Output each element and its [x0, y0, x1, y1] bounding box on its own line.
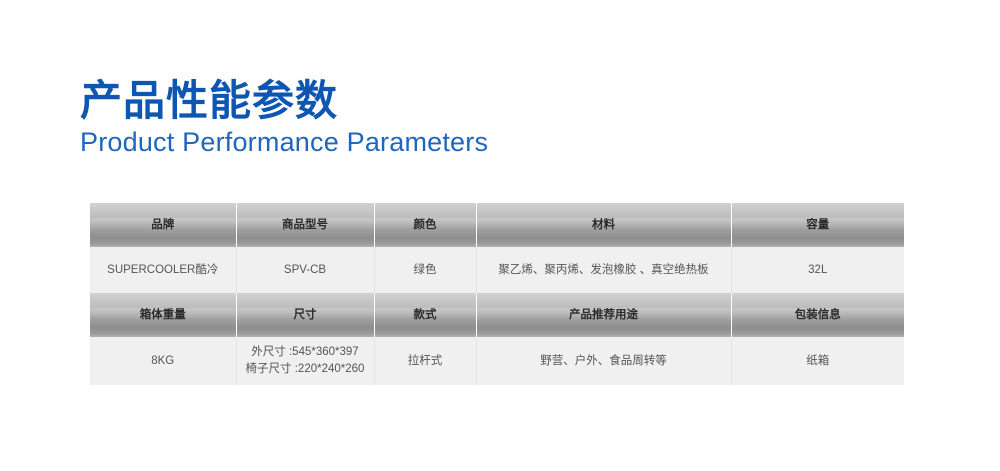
page-heading: 产品性能参数 Product Performance Parameters: [80, 78, 488, 158]
value-cell-style: 拉杆式: [374, 337, 476, 385]
header-cell-material: 材料: [476, 203, 731, 247]
header-cell-size: 尺寸: [236, 293, 374, 337]
table-data-row-1: SUPERCOOLER酷冷 SPV-CB 绿色 聚乙烯、聚丙烯、发泡橡胶 、真空…: [90, 247, 904, 293]
table-data-row-2: 8KG 外尺寸 :545*360*397 椅子尺寸 :220*240*260 拉…: [90, 337, 904, 385]
value-style: 拉杆式: [375, 353, 476, 370]
value-weight: 8KG: [90, 353, 236, 370]
value-material: 聚乙烯、聚丙烯、发泡橡胶 、真空绝热板: [477, 262, 731, 279]
header-label-model: 商品型号: [237, 217, 374, 234]
header-label-packaging: 包装信息: [732, 307, 905, 324]
page-title-cn: 产品性能参数: [80, 78, 488, 123]
header-label-material: 材料: [477, 217, 731, 234]
value-usage: 野营、户外、食品周转等: [477, 353, 731, 370]
value-capacity: 32L: [732, 262, 905, 279]
value-cell-brand: SUPERCOOLER酷冷: [90, 247, 236, 293]
value-model: SPV-CB: [237, 262, 374, 279]
header-label-color: 颜色: [375, 217, 476, 234]
value-cell-size: 外尺寸 :545*360*397 椅子尺寸 :220*240*260: [236, 337, 374, 385]
product-spec-table: 品牌 商品型号 颜色 材料 容量 SUPERCOOLER酷冷: [90, 203, 904, 385]
value-cell-material: 聚乙烯、聚丙烯、发泡橡胶 、真空绝热板: [476, 247, 731, 293]
header-cell-style: 款式: [374, 293, 476, 337]
header-label-style: 款式: [375, 307, 476, 324]
header-label-capacity: 容量: [732, 217, 905, 234]
header-label-brand: 品牌: [90, 217, 236, 234]
table-header-row-2: 箱体重量 尺寸 款式 产品推荐用途 包装信息: [90, 293, 904, 337]
header-cell-weight: 箱体重量: [90, 293, 236, 337]
product-spec-page: 产品性能参数 Product Performance Parameters 品牌…: [0, 0, 1000, 471]
header-cell-packaging: 包装信息: [731, 293, 904, 337]
header-cell-color: 颜色: [374, 203, 476, 247]
header-cell-capacity: 容量: [731, 203, 904, 247]
header-cell-model: 商品型号: [236, 203, 374, 247]
header-label-weight: 箱体重量: [90, 307, 236, 324]
header-label-size: 尺寸: [237, 307, 374, 324]
value-cell-usage: 野营、户外、食品周转等: [476, 337, 731, 385]
header-cell-brand: 品牌: [90, 203, 236, 247]
value-size: 外尺寸 :545*360*397 椅子尺寸 :220*240*260: [237, 344, 374, 377]
value-brand: SUPERCOOLER酷冷: [90, 262, 236, 279]
page-title-en: Product Performance Parameters: [80, 127, 488, 158]
value-packaging: 纸箱: [732, 353, 905, 370]
header-cell-usage: 产品推荐用途: [476, 293, 731, 337]
table-header-row-1: 品牌 商品型号 颜色 材料 容量: [90, 203, 904, 247]
value-cell-weight: 8KG: [90, 337, 236, 385]
header-label-usage: 产品推荐用途: [477, 307, 731, 324]
value-cell-model: SPV-CB: [236, 247, 374, 293]
value-cell-color: 绿色: [374, 247, 476, 293]
value-cell-packaging: 纸箱: [731, 337, 904, 385]
value-cell-capacity: 32L: [731, 247, 904, 293]
value-color: 绿色: [375, 262, 476, 279]
